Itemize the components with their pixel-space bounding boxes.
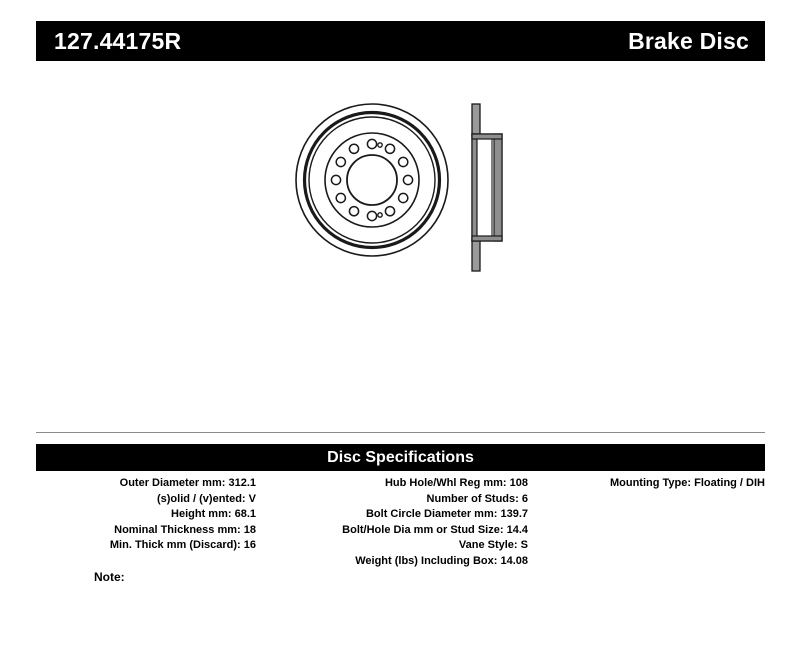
spec-value: 68.1: [235, 508, 256, 520]
spec-label: Number of Studs:: [427, 493, 519, 505]
note-label: Note:: [94, 570, 125, 584]
spec-label: Mounting Type:: [610, 477, 691, 489]
spec-label: Hub Hole/Whl Reg mm:: [385, 477, 507, 489]
spec-label: Bolt Circle Diameter mm:: [366, 508, 497, 520]
spec-label: Height mm:: [171, 508, 232, 520]
spec-value: 14.08: [500, 555, 528, 567]
part-number: 127.44175R: [54, 30, 181, 53]
rotor-side-section-view: [456, 100, 526, 275]
header-bar: 127.44175R Brake Disc: [36, 21, 765, 61]
specifications-body: Outer Diameter mm: 312.1 (s)olid / (v)en…: [36, 476, 765, 569]
spec-value: 6: [522, 493, 528, 505]
spec-label: (s)olid / (v)ented:: [157, 493, 246, 505]
specifications-title: Disc Specifications: [327, 450, 474, 466]
specifications-header-bar: Disc Specifications: [36, 444, 765, 471]
spec-value: S: [521, 539, 528, 551]
spec-value: 14.4: [507, 524, 528, 536]
specs-column-right: Mounting Type: Floating / DIH: [540, 476, 765, 492]
spec-row: Hub Hole/Whl Reg mm: 108: [268, 476, 528, 492]
spec-row: Vane Style: S: [268, 538, 528, 554]
spec-row: Number of Studs: 6: [268, 492, 528, 508]
rotor-face-view: [294, 102, 450, 258]
spec-row: Mounting Type: Floating / DIH: [540, 476, 765, 492]
spec-row: Bolt/Hole Dia mm or Stud Size: 14.4: [268, 523, 528, 539]
spec-value: Floating / DIH: [694, 477, 765, 489]
product-drawing: [36, 80, 765, 420]
specs-column-middle: Hub Hole/Whl Reg mm: 108 Number of Studs…: [268, 476, 528, 569]
spec-value: 312.1: [228, 477, 256, 489]
note-row: Note:: [36, 570, 336, 584]
page-title: Brake Disc: [628, 30, 749, 53]
spec-row: Min. Thick mm (Discard): 16: [36, 538, 256, 554]
spec-row: (s)olid / (v)ented: V: [36, 492, 256, 508]
spec-label: Weight (lbs) Including Box:: [355, 555, 497, 567]
spec-label: Min. Thick mm (Discard):: [110, 539, 241, 551]
spec-value: 139.7: [500, 508, 528, 520]
spec-row: Nominal Thickness mm: 18: [36, 523, 256, 539]
spec-row: Height mm: 68.1: [36, 507, 256, 523]
spec-value: 108: [510, 477, 528, 489]
section-divider: [36, 432, 765, 433]
specs-column-left: Outer Diameter mm: 312.1 (s)olid / (v)en…: [36, 476, 256, 554]
spec-label: Outer Diameter mm:: [120, 477, 226, 489]
spec-value: 18: [244, 524, 256, 536]
spec-label: Bolt/Hole Dia mm or Stud Size:: [342, 524, 503, 536]
spec-row: Bolt Circle Diameter mm: 139.7: [268, 507, 528, 523]
spec-label: Vane Style:: [459, 539, 518, 551]
spec-value: V: [249, 493, 256, 505]
spec-row: Outer Diameter mm: 312.1: [36, 476, 256, 492]
spec-row: Weight (lbs) Including Box: 14.08: [268, 554, 528, 570]
spec-value: 16: [244, 539, 256, 551]
spec-label: Nominal Thickness mm:: [114, 524, 241, 536]
